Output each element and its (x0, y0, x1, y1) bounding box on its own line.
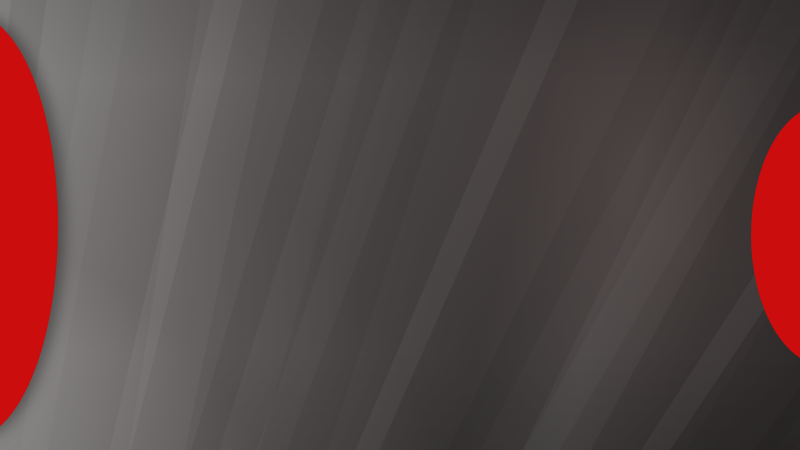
slide-background-vignette (0, 0, 800, 450)
presentation-slide: کامل بررسی نقش نهادهای نظارتی در کاهش ری… (0, 0, 800, 450)
